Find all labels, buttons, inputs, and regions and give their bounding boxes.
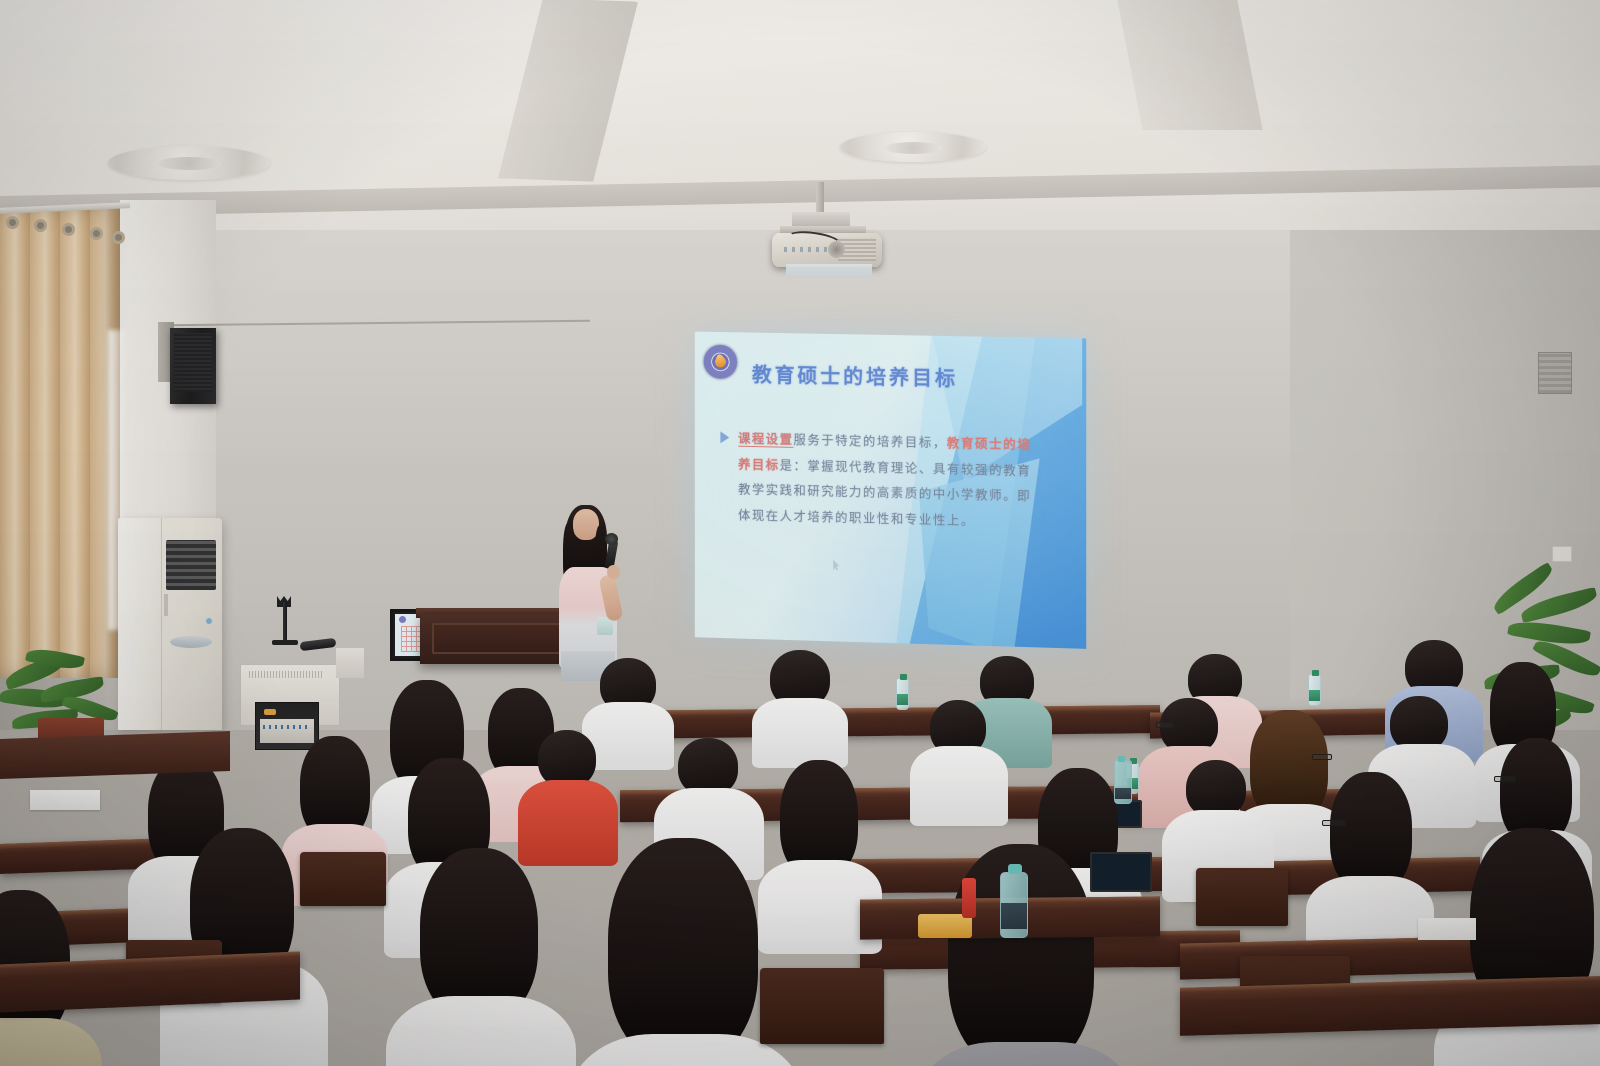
monitor-slide-logo <box>399 616 406 623</box>
slide-text-highlight-1: 课程设置 <box>738 431 793 448</box>
tumbler-bottle <box>1000 872 1028 938</box>
water-bottle <box>1308 674 1321 706</box>
projection-screen: 教育硕士的培养目标 课程设置服务于特定的培养目标，教育硕士的培养目标是：掌握现代… <box>695 332 1086 649</box>
slide-title: 教育硕士的培养目标 <box>752 358 1052 393</box>
window-curtain <box>0 208 120 678</box>
curtain-ring <box>90 227 103 240</box>
person-torso <box>752 698 848 768</box>
university-emblem-icon <box>703 344 738 380</box>
curtain-ring <box>112 231 125 244</box>
wall-vent-icon <box>1538 352 1572 394</box>
paper-notes <box>1418 918 1476 940</box>
slide-body-text: 课程设置服务于特定的培养目标，教育硕士的培养目标是：掌握现代教育理论、具有较强的… <box>738 426 1040 535</box>
mouse-cursor-icon <box>833 560 840 571</box>
speaker-grille <box>174 333 212 392</box>
chair-back <box>760 968 884 1044</box>
bottle-label <box>1001 903 1027 929</box>
curtain-ring <box>62 223 75 236</box>
person-torso <box>386 996 576 1066</box>
presenter-hand <box>607 565 620 579</box>
person-torso <box>518 780 618 866</box>
slide-text-normal-1: 服务于特定的培养目标， <box>793 432 946 450</box>
ac-label <box>164 594 168 616</box>
desk-row <box>600 705 1160 739</box>
lecture-hall-photo: 教育硕士的培养目标 课程设置服务于特定的培养目标，教育硕士的培养目标是：掌握现代… <box>0 0 1600 1066</box>
person-torso <box>910 746 1008 826</box>
chair-back <box>300 852 386 906</box>
ceiling-vent-icon <box>108 146 270 180</box>
projector-mount-rod <box>816 182 824 216</box>
presentation-slide: 教育硕士的培养目标 课程设置服务于特定的培养目标，教育硕士的培养目标是：掌握现代… <box>695 332 1086 649</box>
tumbler-bottle <box>1114 760 1132 804</box>
bottle-cap <box>900 674 907 680</box>
microphone-stand <box>283 602 287 642</box>
eyeglasses-icon <box>1322 820 1346 826</box>
curtain-ring <box>6 216 19 229</box>
triangle-bullet-icon <box>720 431 729 443</box>
tablet-device <box>1090 852 1152 892</box>
snack-bottle <box>962 878 976 918</box>
bottle-cap <box>1118 756 1125 762</box>
bottle-label <box>1309 690 1320 701</box>
ac-indicator <box>206 618 212 624</box>
wall-speaker-icon <box>170 328 216 404</box>
ac-vent-grille <box>166 540 216 590</box>
person-hair <box>420 848 538 1020</box>
person-hair <box>608 838 758 1062</box>
projector-underside <box>786 264 872 278</box>
eyeglasses-icon <box>1156 722 1174 728</box>
side-desk-left <box>0 731 230 779</box>
curtain-ring <box>34 219 47 232</box>
eyeglasses-icon <box>1312 754 1332 760</box>
wall-outlet-icon <box>1552 546 1572 562</box>
ceiling-vent-icon <box>840 132 986 162</box>
person-torso <box>914 1042 1138 1066</box>
bottle-label <box>897 694 908 705</box>
paper-notes <box>30 790 100 810</box>
bottle-label <box>1115 788 1131 799</box>
water-bottle <box>896 678 909 710</box>
slide-text-normal-2: 是：掌握现代教育理论、具有较强的教育教学实践和研究能力的高素质的中小学教师。即体… <box>738 457 1031 528</box>
person-torso <box>0 1018 102 1066</box>
chair-back <box>1196 868 1288 926</box>
ceiling-beam-vertical-2 <box>1117 0 1262 130</box>
bottle-cap <box>1008 864 1022 874</box>
eyeglasses-icon <box>1494 776 1516 782</box>
person-hair <box>1330 772 1412 892</box>
bottle-cap <box>1312 670 1319 676</box>
microphone-head <box>605 533 618 545</box>
audience-area <box>0 640 1600 1066</box>
